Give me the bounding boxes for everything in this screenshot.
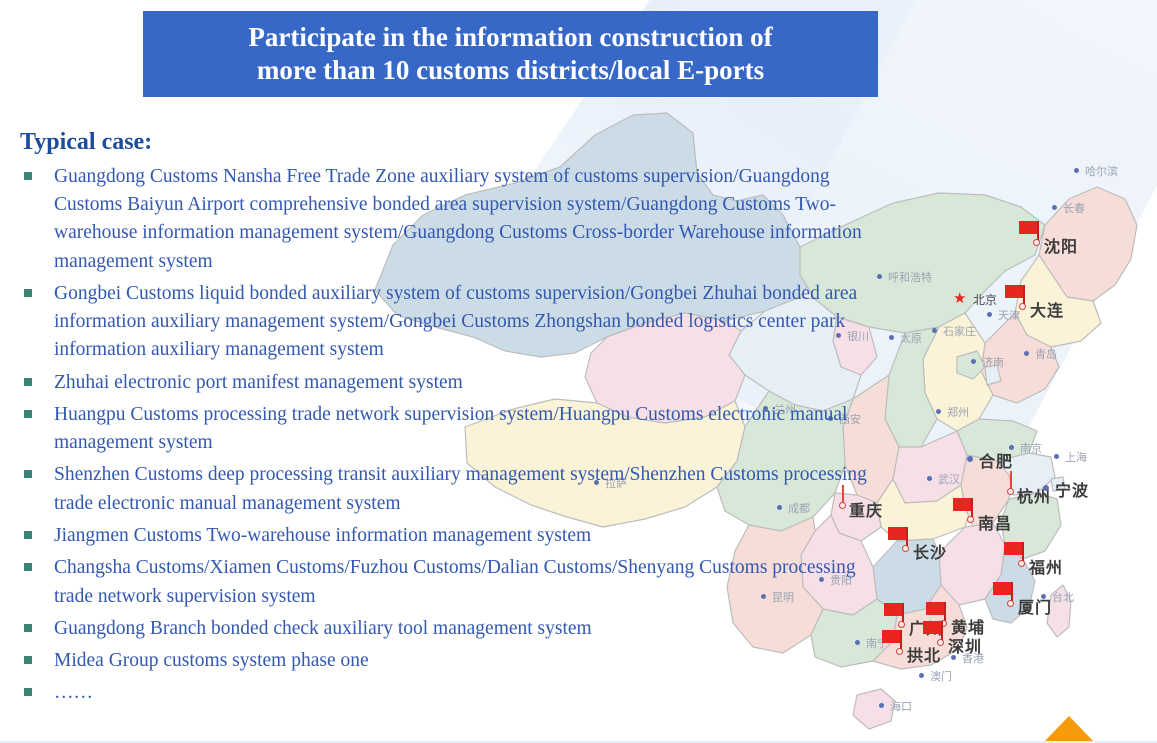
- map-city-label: 太原: [900, 333, 922, 344]
- bullet-square-icon: [24, 656, 32, 664]
- map-city-dot: [1052, 205, 1057, 210]
- flag-pole: [1011, 582, 1013, 602]
- flag-pole: [1037, 221, 1039, 241]
- map-city-dot: [919, 673, 924, 678]
- map-city-label: 长春: [1063, 203, 1085, 214]
- flag-base-dot: [967, 516, 974, 523]
- map-city-label-major: 大连: [1030, 303, 1064, 319]
- list-item-text: Guangdong Customs Nansha Free Trade Zone…: [54, 166, 862, 272]
- flag-cloth: [888, 527, 907, 540]
- flag-base-dot: [896, 648, 903, 655]
- bullet-square-icon: [24, 172, 32, 180]
- map-city-label: 青岛: [1035, 349, 1057, 360]
- pin-head-dot: [1007, 488, 1014, 495]
- bullet-square-icon: [24, 289, 32, 297]
- map-city-label: 郑州: [947, 407, 969, 418]
- map-city-label-major: 杭州: [1017, 489, 1051, 505]
- list-item-text: Changsha Customs/Xiamen Customs/Fuzhou C…: [54, 557, 856, 606]
- list-item-text: Gongbei Customs liquid bonded auxiliary …: [54, 283, 857, 361]
- section-heading: Typical case:: [20, 128, 878, 157]
- flag-cloth: [926, 602, 945, 615]
- bullet-square-icon: [24, 531, 32, 539]
- flag-base-dot: [898, 621, 905, 628]
- map-city-dot: [1074, 168, 1079, 173]
- list-item-text: Shenzhen Customs deep processing transit…: [54, 464, 867, 513]
- pin-stick: [1010, 471, 1012, 491]
- bullet-square-icon: [24, 470, 32, 478]
- map-city-label: 上海: [1065, 452, 1087, 463]
- list-item: Changsha Customs/Xiamen Customs/Fuzhou C…: [18, 554, 878, 611]
- map-city-dot: [1043, 485, 1049, 491]
- list-item: Zhuhai electronic port manifest manageme…: [18, 369, 878, 397]
- flag-cloth: [1005, 285, 1024, 298]
- map-city-label-major: 沈阳: [1044, 239, 1078, 255]
- flag-cloth: [923, 621, 942, 634]
- map-city-label: 北京: [973, 294, 997, 306]
- map-city-dot: [1024, 351, 1029, 356]
- flag-base-dot: [1007, 600, 1014, 607]
- page-title: Participate in the information construct…: [234, 21, 786, 87]
- list-item-text: ……: [54, 682, 93, 703]
- list-item: Guangdong Customs Nansha Free Trade Zone…: [18, 163, 878, 276]
- map-city-label: 海口: [890, 701, 912, 712]
- map-city-label-major: 合肥: [979, 454, 1013, 470]
- flag-pole: [1022, 542, 1024, 562]
- title-line-1: Participate in the information construct…: [248, 22, 772, 52]
- map-city-dot: [879, 703, 884, 708]
- map-city-label: 济南: [982, 357, 1004, 368]
- map-city-label-major: 厦门: [1018, 600, 1052, 616]
- flag-pole: [971, 498, 973, 518]
- flag-cloth: [1004, 542, 1023, 555]
- flag-pole: [902, 603, 904, 623]
- capital-star-icon: ★: [953, 292, 966, 307]
- map-city-label-major: 南昌: [978, 516, 1012, 532]
- flag-pole: [906, 527, 908, 547]
- title-banner: Participate in the information construct…: [143, 11, 878, 97]
- map-city-dot: [936, 409, 941, 414]
- flag-base-dot: [937, 639, 944, 646]
- map-city-dot: [932, 328, 937, 333]
- map-city-label-major: 宁波: [1055, 483, 1089, 499]
- bullet-square-icon: [24, 410, 32, 418]
- flag-pole: [944, 602, 946, 622]
- bullet-square-icon: [24, 563, 32, 571]
- map-city-dot: [1041, 594, 1046, 599]
- map-city-label-major: 广州: [909, 621, 943, 637]
- flag-base-dot: [1018, 560, 1025, 567]
- map-city-label: 香港: [962, 653, 984, 664]
- map-city-label-major: 长沙: [913, 545, 947, 561]
- map-city-label: 澳门: [930, 671, 952, 682]
- map-city-label-major: 拱北: [907, 648, 941, 664]
- list-item: Gongbei Customs liquid bonded auxiliary …: [18, 280, 878, 365]
- flag-cloth: [1019, 221, 1038, 234]
- flag-base-dot: [1033, 239, 1040, 246]
- content-area: Typical case: Guangdong Customs Nansha F…: [18, 128, 878, 712]
- map-city-label-major: 黄埔: [951, 620, 985, 636]
- map-city-dot: [967, 456, 973, 462]
- flag-cloth: [884, 603, 903, 616]
- map-city-dot: [927, 476, 932, 481]
- map-city-label: 南京: [1020, 443, 1042, 454]
- map-city-dot: [951, 655, 956, 660]
- flag-base-dot: [902, 545, 909, 552]
- typical-case-list: Guangdong Customs Nansha Free Trade Zone…: [18, 163, 878, 708]
- map-city-dot: [1009, 445, 1014, 450]
- orange-triangle-decoration: [1042, 716, 1096, 743]
- list-item-text: Jiangmen Customs Two-warehouse informati…: [54, 525, 591, 546]
- map-city-label: 武汉: [938, 474, 960, 485]
- title-line-2: more than 10 customs districts/local E-p…: [257, 55, 764, 85]
- list-item: ……: [18, 679, 878, 707]
- map-city-dot: [889, 335, 894, 340]
- flag-pole: [900, 630, 902, 650]
- bullet-square-icon: [24, 378, 32, 386]
- map-city-label: 天津: [998, 310, 1020, 321]
- map-city-label-major: 深圳: [948, 639, 982, 655]
- list-item: Huangpu Customs processing trade network…: [18, 401, 878, 458]
- flag-cloth: [882, 630, 901, 643]
- flag-cloth: [953, 498, 972, 511]
- flag-pole: [1023, 285, 1025, 305]
- list-item: Midea Group customs system phase one: [18, 647, 878, 675]
- list-item: Shenzhen Customs deep processing transit…: [18, 461, 878, 518]
- list-item-text: Zhuhai electronic port manifest manageme…: [54, 372, 463, 393]
- map-city-label-major: 福州: [1029, 560, 1063, 576]
- list-item-text: Guangdong Branch bonded check auxiliary …: [54, 618, 592, 639]
- list-item: Jiangmen Customs Two-warehouse informati…: [18, 522, 878, 550]
- map-city-label: 呼和浩特: [888, 272, 932, 283]
- map-city-label: 台北: [1052, 592, 1074, 603]
- flag-cloth: [993, 582, 1012, 595]
- slide-canvas: 哈尔滨长春呼和浩特银川太原石家庄济南青岛郑州西安兰州拉萨成都武汉南京上海贵阳昆明…: [0, 0, 1157, 743]
- list-item: Guangdong Branch bonded check auxiliary …: [18, 615, 878, 643]
- list-item-text: Midea Group customs system phase one: [54, 650, 369, 671]
- map-city-label: 石家庄: [943, 326, 976, 337]
- map-city-dot: [987, 312, 992, 317]
- list-item-text: Huangpu Customs processing trade network…: [54, 404, 847, 453]
- flag-base-dot: [1019, 303, 1026, 310]
- bullet-square-icon: [24, 688, 32, 696]
- bullet-square-icon: [24, 624, 32, 632]
- flag-base-dot: [940, 620, 947, 627]
- map-city-label: 哈尔滨: [1085, 166, 1118, 177]
- map-city-dot: [1054, 454, 1059, 459]
- map-city-dot: [971, 359, 976, 364]
- flag-pole: [941, 621, 943, 641]
